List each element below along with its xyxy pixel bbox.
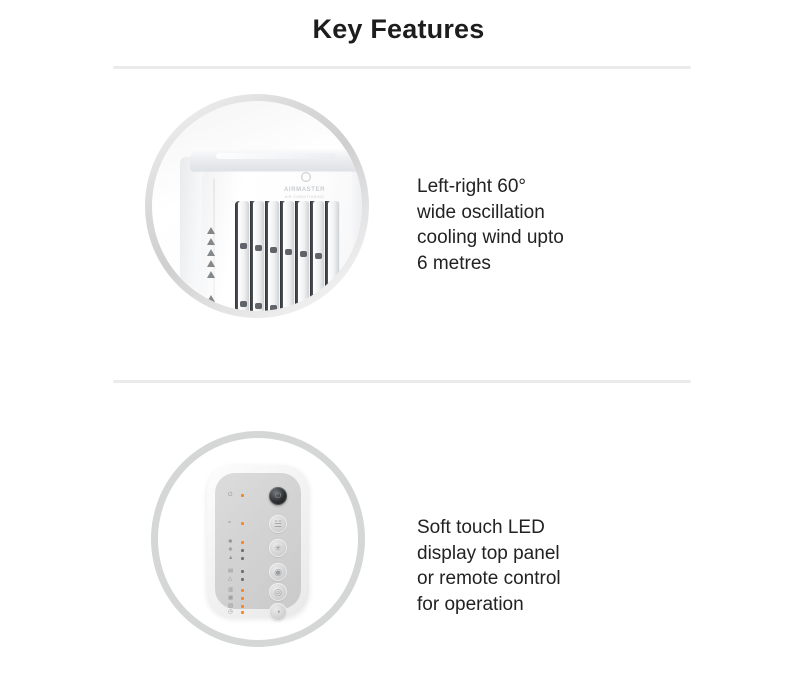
purify-indicator-icon: ▲ bbox=[228, 555, 233, 562]
swing-button[interactable]: ☱ bbox=[269, 515, 287, 533]
brand-label: AIRMASTER AIR CONDITIONING bbox=[284, 187, 325, 201]
feature-1-caption: Left-right 60° wide oscillation cooling … bbox=[417, 174, 564, 276]
wind-mode-button[interactable]: ◉ bbox=[269, 563, 287, 581]
speed-mid-icon: ▦ bbox=[228, 595, 233, 602]
feature-2-caption: Soft touch LED display top panel or remo… bbox=[417, 515, 561, 617]
louver-blades bbox=[235, 201, 355, 311]
speed-indicator-2: ▦ bbox=[228, 595, 264, 602]
humidify-indicator-icon: ❖ bbox=[228, 547, 233, 554]
swing-indicator: ≈ bbox=[228, 520, 264, 527]
timer-icon: ◔ bbox=[269, 603, 287, 621]
timer-indicator-icon: ◷ bbox=[228, 609, 233, 616]
power-icon: ⏻ bbox=[269, 487, 287, 505]
speed-indicator-1: ▥ bbox=[228, 587, 264, 594]
speed-high-icon: ▥ bbox=[228, 587, 233, 594]
air-cooler-unit: AIRMASTER AIR CONDITIONING bbox=[180, 149, 362, 311]
air-cooler-louvers-photo: AIRMASTER AIR CONDITIONING bbox=[145, 90, 371, 344]
divider-middle bbox=[113, 380, 691, 383]
divider-top bbox=[113, 66, 691, 69]
control-panel: ⏻ ☱ ✳ ◉ ◎ bbox=[207, 465, 309, 617]
timer-button[interactable]: ◔ bbox=[269, 603, 287, 621]
power-indicator-icon: ⏻ bbox=[228, 492, 232, 499]
timer-indicator: ◷ bbox=[228, 609, 264, 616]
wind-indicator-2: △ bbox=[228, 576, 264, 583]
page-title: Key Features bbox=[0, 14, 797, 45]
feature-1-media: AIRMASTER AIR CONDITIONING bbox=[145, 90, 371, 344]
lid-sheen bbox=[216, 153, 336, 159]
mode-indicator-1: ✱ bbox=[228, 539, 264, 546]
swing-icon: ☱ bbox=[269, 515, 287, 533]
feature-row-1: AIRMASTER AIR CONDITIONING Left-right 60… bbox=[0, 90, 797, 370]
key-features-page: Key Features bbox=[0, 0, 797, 700]
mode-indicator-3: ▲ bbox=[228, 555, 264, 562]
feature-row-2: ⏻ ☱ ✳ ◉ ◎ bbox=[0, 425, 797, 675]
power-indicator: ⏻ bbox=[228, 492, 264, 499]
swing-indicator-icon: ≈ bbox=[228, 520, 231, 527]
photo-inner: AIRMASTER AIR CONDITIONING bbox=[152, 101, 362, 311]
snowflake-icon: ✳ bbox=[269, 539, 287, 557]
speed-icon: ◎ bbox=[269, 583, 287, 601]
led-control-panel-photo: ⏻ ☱ ✳ ◉ ◎ bbox=[145, 425, 373, 657]
brand-name: AIRMASTER bbox=[284, 187, 325, 193]
wind-indicator-1: ▤ bbox=[228, 568, 264, 575]
fan-icon: ◉ bbox=[269, 563, 287, 581]
mode-indicator-2: ❖ bbox=[228, 547, 264, 554]
speed-button[interactable]: ◎ bbox=[269, 583, 287, 601]
power-button[interactable]: ⏻ bbox=[269, 487, 287, 505]
brand-logo-icon bbox=[298, 169, 314, 185]
feature-2-media: ⏻ ☱ ✳ ◉ ◎ bbox=[145, 425, 373, 657]
cooler-top-lid bbox=[190, 149, 362, 171]
snowflake-indicator-icon: ✱ bbox=[228, 539, 233, 546]
vent-arrow-marks bbox=[207, 227, 219, 311]
sleep-wind-icon: △ bbox=[228, 576, 232, 583]
control-panel-face: ⏻ ☱ ✳ ◉ ◎ bbox=[215, 473, 301, 609]
cool-mode-button[interactable]: ✳ bbox=[269, 539, 287, 557]
natural-wind-icon: ▤ bbox=[228, 568, 233, 575]
brand-tagline: AIR CONDITIONING bbox=[284, 194, 325, 201]
